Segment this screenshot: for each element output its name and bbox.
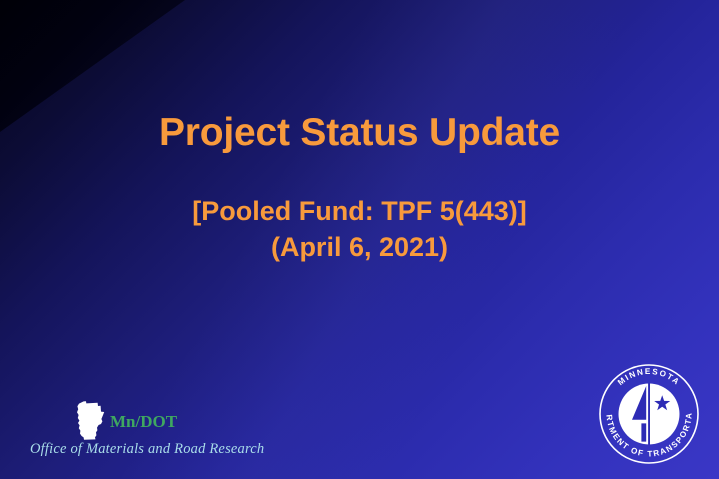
minnesota-state-outline-icon bbox=[74, 401, 108, 441]
presentation-slide: Project Status Update [Pooled Fund: TPF … bbox=[0, 0, 719, 479]
slide-title: Project Status Update bbox=[0, 113, 719, 154]
mndot-wordmark-row: Mn/DOT bbox=[30, 401, 280, 441]
mndot-wordmark: Mn/DOT bbox=[110, 412, 177, 432]
mndot-seal-logo: MINNESOTA DEPARTMENT OF TRANSPORTATION bbox=[598, 363, 700, 465]
mndot-office-logo: Mn/DOT Office of Materials and Road Rese… bbox=[30, 401, 280, 463]
subtitle-line-date: (April 6, 2021) bbox=[0, 230, 719, 266]
title-block: Project Status Update bbox=[0, 113, 719, 154]
subtitle-line-pooled-fund: [Pooled Fund: TPF 5(443)] bbox=[0, 194, 719, 230]
office-of-materials-and-road-research-label: Office of Materials and Road Research bbox=[30, 441, 264, 458]
subtitle-block: [Pooled Fund: TPF 5(443)] (April 6, 2021… bbox=[0, 194, 719, 266]
